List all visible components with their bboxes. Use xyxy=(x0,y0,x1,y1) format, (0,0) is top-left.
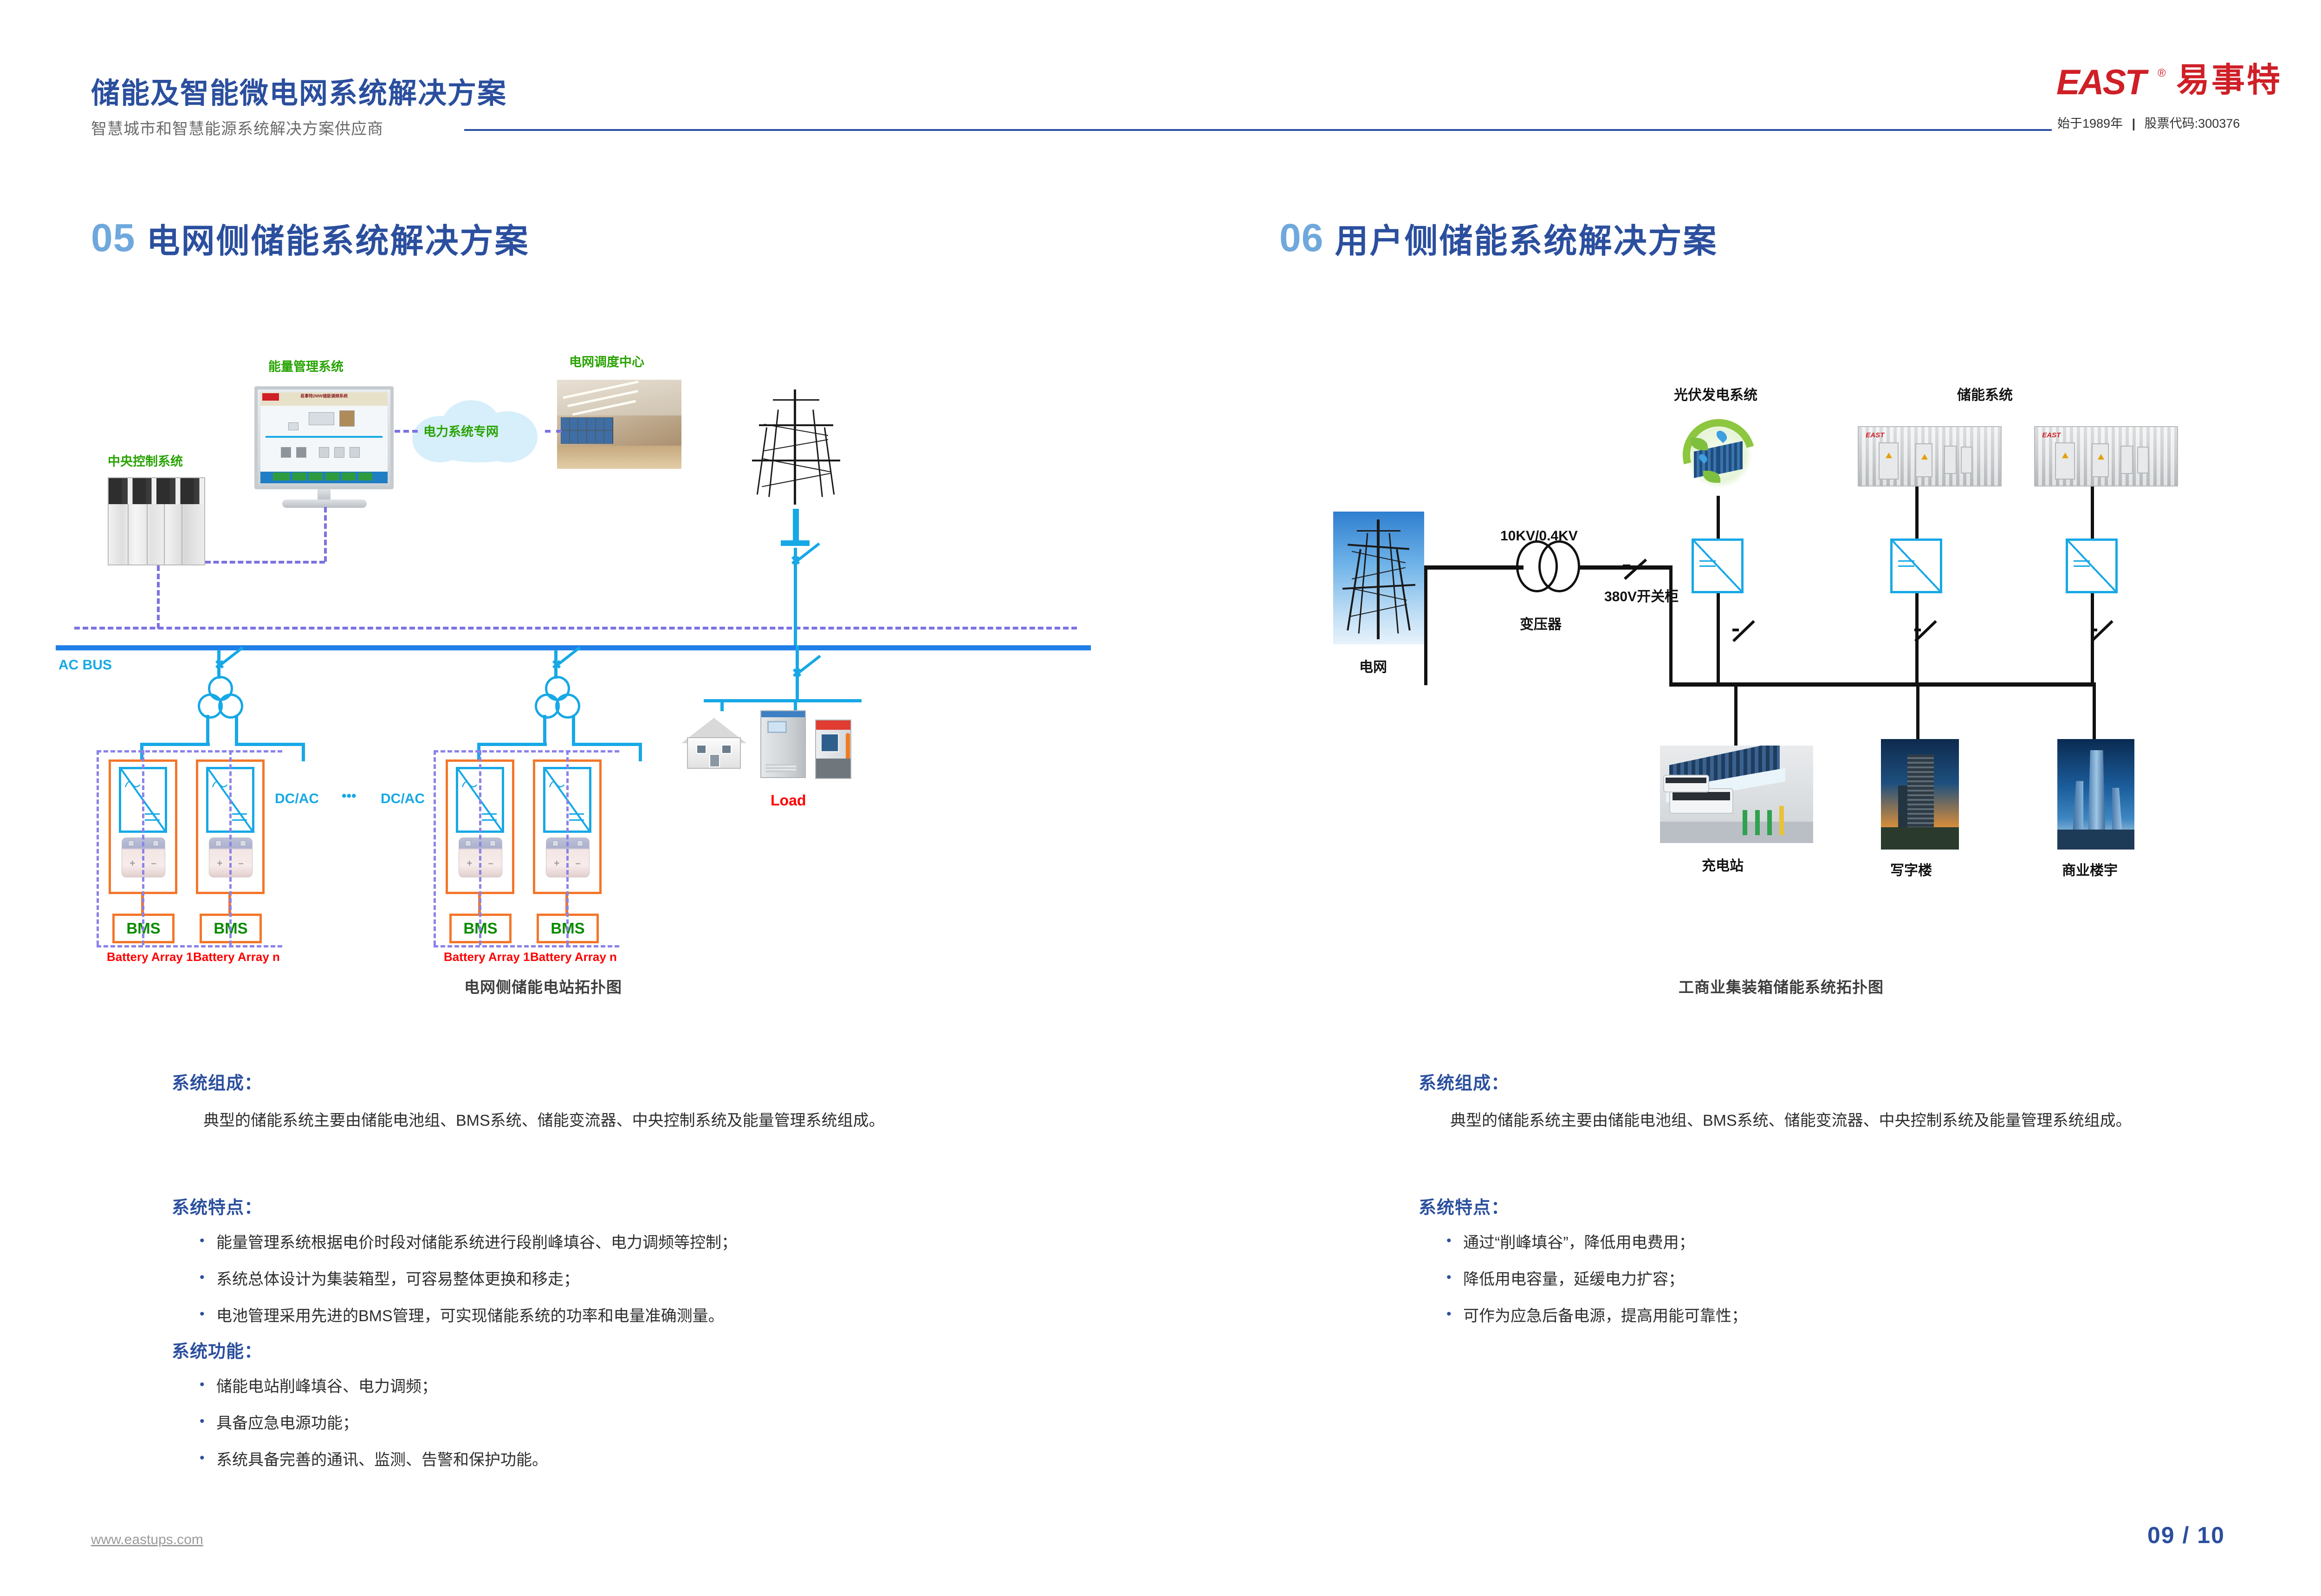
ess1-inverter-icon xyxy=(1890,538,1942,593)
central-control-plc-image xyxy=(108,477,205,565)
ess2-inverter-icon xyxy=(2066,538,2118,593)
bullet-list-functions-left: 储能电站削峰填谷、电力调频； 具备应急电源功能； 系统具备完善的通讯、监测、告警… xyxy=(195,1375,938,1485)
commercial-base xyxy=(2057,830,2134,850)
switchgear-down xyxy=(1669,565,1673,686)
charger-top xyxy=(816,720,850,730)
diagram-caption-left: 电网侧储能电站拓扑图 xyxy=(464,975,622,997)
list-item: 具备应急电源功能； xyxy=(195,1412,938,1435)
label-charging-station: 充电站 xyxy=(1702,854,1744,875)
list-item: 通过“削峰填谷”，降低用电费用； xyxy=(1442,1231,2185,1255)
list-item: 可作为应急后备电源，提高用能可靠性； xyxy=(1442,1304,2185,1328)
block-heading-composition-left: 系统组成： xyxy=(172,1069,262,1094)
transformer-1-icon xyxy=(198,676,249,727)
container-door-1c xyxy=(1944,446,1957,474)
commercial-building-image xyxy=(2057,739,2134,850)
monitor-unit-3 xyxy=(319,447,329,458)
pv-drop-wire xyxy=(1717,496,1720,539)
ems-monitor-image: 易事特2MW储能调频系统 xyxy=(254,386,394,489)
label-grid: 电网 xyxy=(1359,655,1387,676)
list-item: 储能电站削峰填谷、电力调频； xyxy=(195,1375,938,1399)
xfmr2-leg-b xyxy=(572,715,575,746)
monitor-status-cell-6 xyxy=(358,473,372,481)
array-group-2-dash-left xyxy=(434,750,436,945)
cabinet-screen xyxy=(767,721,787,733)
station-bus-2 xyxy=(1663,775,1709,792)
bullet-list-features-left: 能量管理系统根据电价时段对储能系统进行段削峰填谷、电力调频等控制； 系统总体设计… xyxy=(195,1231,938,1341)
label-ellipsis: ••• xyxy=(342,788,357,804)
station-charger-pole-2 xyxy=(1755,810,1760,836)
ev-charger-image xyxy=(815,720,851,779)
monitor-status-cell-1 xyxy=(273,473,290,481)
monitor-bus-line xyxy=(266,436,383,438)
label-dcac-1: DC/AC xyxy=(275,791,319,807)
charging-station-tap xyxy=(1734,682,1738,750)
xfmr1-down-b xyxy=(302,743,305,761)
block-heading-features-left: 系统特点： xyxy=(172,1193,262,1219)
house-door xyxy=(709,754,720,767)
pv-inverter-icon xyxy=(1692,538,1744,593)
container-door-2d xyxy=(2137,447,2148,474)
array-n-dash-mid xyxy=(229,750,232,945)
ess2-drop-wire xyxy=(2091,487,2094,539)
load-tap-1 xyxy=(720,699,724,711)
label-commercial-building: 商业楼宇 xyxy=(2062,859,2118,879)
section-05-number: 05 xyxy=(91,215,135,260)
tower-drop-cap xyxy=(781,540,810,546)
array-group-1-dash-top xyxy=(97,750,282,753)
block-paragraph-composition-left: 典型的储能系统主要由储能电池组、BMS系统、储能变流器、中央控制系统及能量管理系… xyxy=(172,1109,928,1134)
house-window-2 xyxy=(721,745,732,754)
list-item: 能量管理系统根据电价时段对储能系统进行段削峰填谷、电力调频等控制； xyxy=(195,1231,938,1255)
label-switchgear: 380V开关柜 xyxy=(1604,585,1679,605)
charger-screen xyxy=(820,733,839,753)
ac-bus-line xyxy=(56,645,1091,650)
label-pv-system: 光伏发电系统 xyxy=(1674,383,1757,404)
monitor-status-cell-3 xyxy=(309,473,323,481)
bullet-list-features-right: 通过“削峰填谷”，降低用电费用； 降低用电容量，延缓电力扩容； 可作为应急后备电… xyxy=(1442,1231,2185,1341)
office-base xyxy=(1881,827,1959,850)
label-dcac-2: DC/AC xyxy=(381,791,425,807)
office-tower xyxy=(1907,754,1934,830)
ems-monitor-screen: 易事特2MW储能调频系统 xyxy=(260,392,388,483)
transformer-icon xyxy=(1516,540,1582,593)
container-door-2c xyxy=(2120,446,2133,474)
house-load-image xyxy=(677,713,751,773)
section-06-number: 06 xyxy=(1279,215,1323,260)
plc-slot-4 xyxy=(182,504,182,564)
monitor-screen-title: 易事特2MW储能调频系统 xyxy=(300,393,348,399)
list-item: 系统总体设计为集装箱型，可容易整体更换和移走； xyxy=(195,1268,938,1291)
xfmr2-bus-b xyxy=(572,743,642,746)
dash-cloud-to-dispatch xyxy=(545,430,562,433)
diagram-caption-right: 工商业集装箱储能系统拓扑图 xyxy=(1679,975,1884,997)
monitor-topbar: 易事特2MW储能调频系统 xyxy=(260,392,388,406)
dash-main-comms-bus xyxy=(74,627,1077,629)
label-office-building: 写字楼 xyxy=(1890,859,1932,879)
grid-dispatch-room-image xyxy=(557,380,681,469)
cabinet-top xyxy=(760,711,806,717)
station-charger-pole-3 xyxy=(1767,810,1772,836)
house-window-1 xyxy=(696,745,707,754)
monitor-diagram-box-2 xyxy=(339,410,355,427)
array-group-2-dash-top xyxy=(434,750,619,753)
dash-ems-to-cloud xyxy=(395,430,418,433)
array-1-dash-mid xyxy=(142,750,144,945)
station-bollard xyxy=(1779,806,1784,835)
label-ac-bus: AC BUS xyxy=(58,657,112,673)
transmission-tower-image xyxy=(738,384,854,510)
section-06-column: 06用户侧储能系统解决方案 光伏发电系统 储能系统 EAST xyxy=(1168,0,2321,1596)
label-transformer: 变压器 xyxy=(1520,613,1562,633)
transformer-2-icon xyxy=(535,676,586,727)
section-06-heading: 06用户侧储能系统解决方案 xyxy=(1279,214,1718,262)
dash-plc-to-monitor xyxy=(205,561,325,564)
label-battery-array-nb: Battery Array n xyxy=(530,950,617,964)
warning-icon-1 xyxy=(1886,453,1892,458)
ess-container-2-image: EAST xyxy=(2034,426,2178,487)
monitor-unit-4 xyxy=(334,447,344,458)
block-heading-composition-right: 系统组成： xyxy=(1419,1069,1509,1094)
pv-panel-2 xyxy=(1718,441,1743,475)
station-ground xyxy=(1660,822,1813,843)
xfmr1-bus-a xyxy=(140,743,210,746)
label-grid-dispatch: 电网调度中心 xyxy=(569,352,644,370)
container-door-1a xyxy=(1879,442,1899,480)
array-group-1-dash-left xyxy=(97,750,99,945)
commercial-main-tower xyxy=(2088,750,2105,832)
plc-slot-2 xyxy=(147,504,148,564)
station-charger-pole-1 xyxy=(1743,810,1747,836)
list-item: 系统具备完善的通讯、监测、告警和保护功能。 xyxy=(195,1448,938,1472)
dash-monitor-down xyxy=(324,507,327,562)
container-logo-2: EAST xyxy=(2042,431,2061,439)
tower-drop-wire xyxy=(793,509,799,543)
array-1b-dash-mid xyxy=(479,750,481,945)
label-battery-array-n: Battery Array n xyxy=(193,950,280,964)
label-ems: 能量管理系统 xyxy=(268,357,344,375)
block-paragraph-composition-right: 典型的储能系统主要由储能电池组、BMS系统、储能变流器、中央控制系统及能量管理系… xyxy=(1419,1109,2180,1134)
load-bus xyxy=(704,699,862,702)
grid-side-topology-diagram: 能量管理系统 易事特2MW储能调频系统 xyxy=(88,344,1063,961)
pv-system-image xyxy=(1679,416,1758,494)
container-door-2b xyxy=(2092,443,2109,477)
xfmr1-leg-a xyxy=(206,715,209,746)
dash-plc-down xyxy=(157,565,160,629)
ess1-drop-wire xyxy=(1915,487,1919,539)
section-05-title: 电网侧储能系统解决方案 xyxy=(146,214,529,262)
lv-main-bus xyxy=(1669,682,2095,687)
monitor-status-cell-4 xyxy=(325,473,339,481)
container-door-1d xyxy=(1961,447,1972,474)
commercial-left-tower xyxy=(2073,781,2083,831)
grid-riser xyxy=(1424,565,1427,685)
commercial-building-tap xyxy=(2093,682,2096,741)
monitor-diagram-box-3 xyxy=(288,422,298,431)
xfmr2-leg-a xyxy=(543,715,546,746)
monitor-logo-icon xyxy=(262,393,279,401)
monitor-status-cell-5 xyxy=(342,473,356,481)
container-logo-1: EAST xyxy=(1866,431,1884,439)
footer-page-number: 09 / 10 xyxy=(2147,1522,2225,1549)
charging-station-image xyxy=(1660,746,1813,843)
video-wall xyxy=(561,417,613,444)
monitor-unit-5 xyxy=(350,447,360,458)
label-central-control: 中央控制系统 xyxy=(108,451,183,469)
list-item: 降低用电容量，延缓电力扩容； xyxy=(1442,1268,2185,1291)
mv-line-left xyxy=(1424,565,1524,570)
section-06-title: 用户侧储能系统解决方案 xyxy=(1335,214,1718,262)
label-ess-system: 储能系统 xyxy=(1957,383,2013,404)
label-battery-array-1b: Battery Array 1 xyxy=(444,950,530,964)
warning-icon-2 xyxy=(1921,454,1928,460)
room-floor xyxy=(557,446,681,469)
xfmr1-bus-b xyxy=(235,743,305,746)
monitor-status-cell-2 xyxy=(292,473,306,481)
warning-icon-3 xyxy=(2062,453,2068,458)
tower-to-bus-wire xyxy=(794,548,797,645)
load-tap-2 xyxy=(794,699,797,711)
commercial-ess-topology-diagram: 光伏发电系统 储能系统 EAST xyxy=(1316,344,2282,961)
monitor-unit-2 xyxy=(296,447,306,458)
array-group-2-dash-bottom xyxy=(434,945,619,947)
commercial-right-tower xyxy=(2112,788,2122,832)
plc-slot-1 xyxy=(128,504,129,564)
xfmr2-bus-a xyxy=(477,743,547,746)
pv-inverter-down xyxy=(1717,593,1720,684)
container-door-1b xyxy=(1915,443,1932,477)
charger-base xyxy=(816,759,850,778)
plc-slot-3 xyxy=(164,504,165,564)
monitor-unit-1 xyxy=(281,447,291,458)
warning-icon-4 xyxy=(2098,454,2104,460)
block-heading-functions-left: 系统功能： xyxy=(172,1337,262,1362)
document-page: 储能及智能微电网系统解决方案 智慧城市和智慧能源系统解决方案供应商 EAST ®… xyxy=(0,0,2321,1596)
section-05-column: 05电网侧储能系统解决方案 能量管理系统 易事特2MW储能调频系统 xyxy=(0,0,1168,1596)
monitor-bottombar xyxy=(260,472,388,483)
ess-container-1-image: EAST xyxy=(1858,426,2002,487)
label-battery-array-1: Battery Array 1 xyxy=(107,950,193,964)
section-05-heading: 05电网侧储能系统解决方案 xyxy=(91,214,529,262)
footer-website-link[interactable]: www.eastups.com xyxy=(91,1532,203,1548)
grid-tower-image xyxy=(1333,512,1424,644)
array-group-1-dash-bottom xyxy=(97,945,282,947)
xfmr2-down-b xyxy=(639,743,642,761)
list-item: 电池管理采用先进的BMS管理，可实现储能系统的功率和电量准确测量。 xyxy=(195,1304,938,1328)
office-building-image xyxy=(1881,739,1959,850)
label-load: Load xyxy=(771,792,806,809)
label-power-network: 电力系统专网 xyxy=(423,422,499,440)
pcs-cabinet-image xyxy=(760,710,806,778)
block-heading-features-right: 系统特点： xyxy=(1419,1193,1509,1219)
cabinet-vent xyxy=(765,764,796,772)
xfmr1-leg-b xyxy=(235,715,238,746)
container-door-2a xyxy=(2055,442,2075,480)
array-nb-dash-mid xyxy=(566,750,569,945)
plc-top-modules xyxy=(109,478,204,504)
monitor-diagram-box-1 xyxy=(309,412,334,425)
office-building-tap xyxy=(1916,682,1919,741)
